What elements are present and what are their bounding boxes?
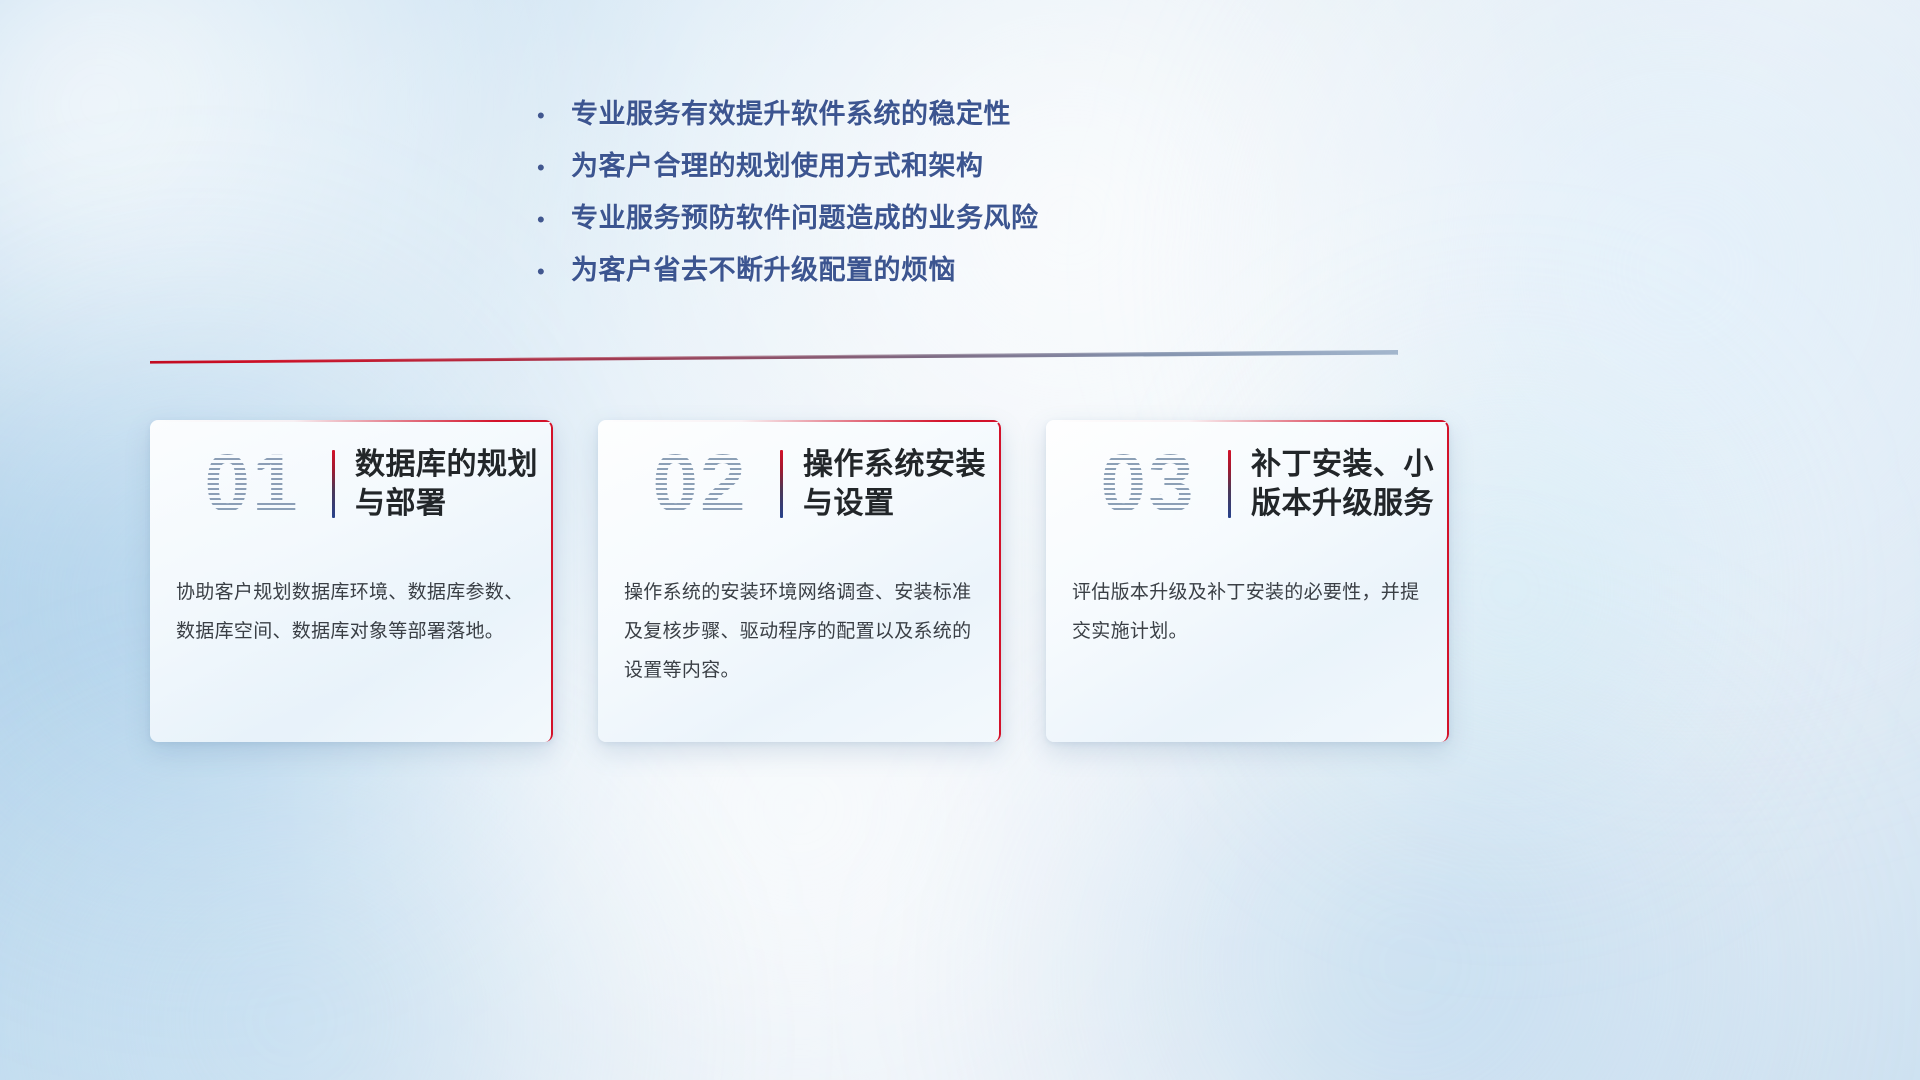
service-card-03[interactable]: 03 补丁安装、小版本升级服务 评估版本升级及补丁安装的必要性，并提交实施计划。 (1046, 420, 1449, 742)
bullet-text: 专业服务预防软件问题造成的业务风险 (571, 192, 1039, 244)
card-number-watermark: 03 (1068, 443, 1228, 525)
card-description: 操作系统的安装环境网络调查、安装标准及复核步骤、驱动程序的配置以及系统的设置等内… (598, 548, 1001, 691)
card-header: 02 操作系统安装与设置 (598, 420, 1001, 548)
list-item: • 专业服务有效提升软件系统的稳定性 (537, 88, 1237, 140)
bullet-dot-icon: • (537, 246, 571, 298)
list-item: • 专业服务预防软件问题造成的业务风险 (537, 192, 1237, 244)
card-number-watermark: 01 (172, 443, 332, 525)
list-item: • 为客户合理的规划使用方式和架构 (537, 140, 1237, 192)
section-divider (150, 350, 1398, 364)
bullet-dot-icon: • (537, 142, 571, 194)
bullet-text: 为客户合理的规划使用方式和架构 (571, 140, 984, 192)
card-description: 评估版本升级及补丁安装的必要性，并提交实施计划。 (1046, 548, 1449, 652)
service-card-02[interactable]: 02 操作系统安装与设置 操作系统的安装环境网络调查、安装标准及复核步骤、驱动程… (598, 420, 1001, 742)
card-header: 03 补丁安装、小版本升级服务 (1046, 420, 1449, 548)
card-divider-bar (332, 450, 335, 518)
card-number-watermark: 02 (620, 443, 780, 525)
service-cards: 01 数据库的规划与部署 协助客户规划数据库环境、数据库参数、数据库空间、数据库… (150, 420, 1450, 745)
card-title: 补丁安装、小版本升级服务 (1251, 445, 1449, 523)
card-divider-bar (1228, 450, 1231, 518)
card-description: 协助客户规划数据库环境、数据库参数、数据库空间、数据库对象等部署落地。 (150, 548, 553, 652)
divider-shape-icon (150, 350, 1398, 364)
card-divider-bar (780, 450, 783, 518)
card-title: 数据库的规划与部署 (355, 445, 553, 523)
bullet-dot-icon: • (537, 90, 571, 142)
list-item: • 为客户省去不断升级配置的烦恼 (537, 244, 1237, 296)
bullet-text: 为客户省去不断升级配置的烦恼 (571, 244, 956, 296)
benefits-bullet-list: • 专业服务有效提升软件系统的稳定性 • 为客户合理的规划使用方式和架构 • 专… (537, 88, 1237, 296)
service-card-01[interactable]: 01 数据库的规划与部署 协助客户规划数据库环境、数据库参数、数据库空间、数据库… (150, 420, 553, 742)
bullet-dot-icon: • (537, 194, 571, 246)
card-header: 01 数据库的规划与部署 (150, 420, 553, 548)
card-title: 操作系统安装与设置 (803, 445, 1001, 523)
bullet-text: 专业服务有效提升软件系统的稳定性 (571, 88, 1011, 140)
